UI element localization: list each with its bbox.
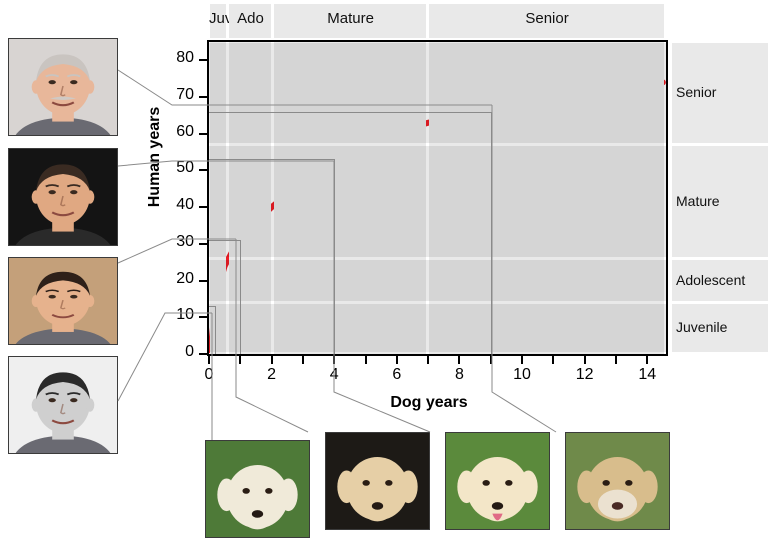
y-tick-50: [199, 169, 207, 171]
right-label-senior: Senior: [676, 84, 716, 100]
plot-area: [207, 40, 668, 356]
y-tick-label-10: 10: [152, 306, 194, 324]
x-tick-6: [396, 356, 398, 364]
guide-horizontal-2: [209, 159, 334, 160]
x-tick-4: [333, 356, 335, 364]
top-header-label-ado: Ado: [228, 10, 273, 27]
right-label-juvenile: Juvenile: [676, 319, 727, 335]
figure-canvas: JuvAdoMatureSenior 01020304050607080 024…: [0, 0, 768, 549]
x-tick-9: [490, 356, 492, 364]
y-tick-label-20: 20: [152, 270, 194, 288]
right-label-mature: Mature: [676, 193, 720, 209]
guide-vertical-1: [240, 240, 241, 354]
x-tick-10: [521, 356, 523, 364]
x-tick-label-14: 14: [627, 366, 667, 384]
photo-boy-portrait: [8, 356, 118, 454]
y-tick-40: [199, 206, 207, 208]
guide-horizontal-1: [209, 240, 240, 241]
row-band-adolescent: [209, 260, 666, 301]
row-band-senior: [209, 43, 666, 143]
x-tick-label-6: 6: [377, 366, 417, 384]
right-label-adolescent: Adolescent: [676, 272, 745, 288]
x-tick-12: [584, 356, 586, 364]
x-tick-14: [646, 356, 648, 364]
x-tick-label-4: 4: [314, 366, 354, 384]
x-tick-0: [208, 356, 210, 364]
photo-young-man-portrait: [8, 257, 118, 345]
photo-young-labrador-head: [325, 432, 430, 530]
y-tick-20: [199, 280, 207, 282]
y-tick-label-30: 30: [152, 233, 194, 251]
row-band-juvenile: [209, 304, 666, 352]
y-tick-10: [199, 316, 207, 318]
x-tick-11: [552, 356, 554, 364]
x-tick-2: [271, 356, 273, 364]
x-tick-label-10: 10: [502, 366, 542, 384]
guide-vertical-2: [334, 159, 335, 354]
y-tick-label-0: 0: [152, 343, 194, 361]
y-tick-80: [199, 59, 207, 61]
x-tick-label-12: 12: [565, 366, 605, 384]
x-tick-3: [302, 356, 304, 364]
guide-horizontal-0: [209, 306, 215, 307]
x-tick-1: [239, 356, 241, 364]
x-tick-5: [365, 356, 367, 364]
y-tick-60: [199, 133, 207, 135]
top-header-label-juv: Juv: [209, 10, 228, 27]
top-header-label-mature: Mature: [273, 10, 428, 27]
y-tick-30: [199, 243, 207, 245]
guide-vertical-3: [491, 112, 492, 354]
photo-adult-labrador-smiling: [445, 432, 550, 530]
photo-labrador-puppy-on-grass: [205, 440, 310, 538]
x-tick-8: [458, 356, 460, 364]
y-axis-title: Human years: [146, 97, 164, 217]
y-tick-label-80: 80: [152, 49, 194, 67]
x-tick-label-0: 0: [189, 366, 229, 384]
y-tick-0: [199, 353, 207, 355]
photo-older-man-portrait: [8, 38, 118, 136]
top-header-label-senior: Senior: [428, 10, 666, 27]
x-tick-13: [615, 356, 617, 364]
guide-vertical-0: [215, 306, 216, 354]
y-tick-70: [199, 96, 207, 98]
guide-horizontal-3: [209, 112, 491, 113]
x-tick-7: [427, 356, 429, 364]
x-tick-label-8: 8: [439, 366, 479, 384]
x-tick-label-2: 2: [252, 366, 292, 384]
row-band-mature: [209, 146, 666, 257]
photo-middle-aged-portrait: [8, 148, 118, 246]
photo-senior-labrador-grey-muzzle: [565, 432, 670, 530]
